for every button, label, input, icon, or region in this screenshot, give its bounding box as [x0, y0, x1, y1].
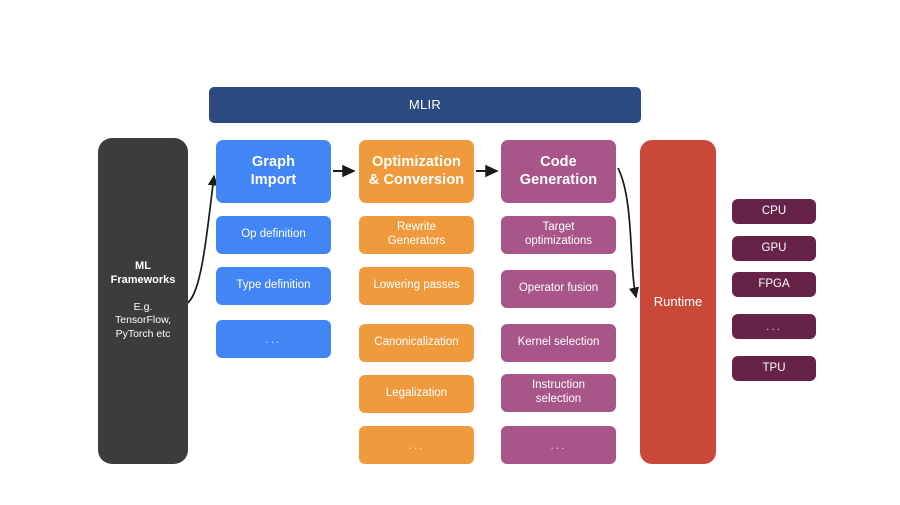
item-instruction-selection[interactable]: Instruction selection [501, 374, 616, 412]
item-label: Lowering passes [373, 279, 459, 293]
item-operator-fusion[interactable]: Operator fusion [501, 270, 616, 308]
stage-header-code-generation[interactable]: Code Generation [501, 140, 616, 203]
item-label: ... [408, 438, 424, 452]
item-label: ... [550, 438, 566, 452]
mlir-banner: MLIR [209, 87, 641, 123]
item-legalization[interactable]: Legalization [359, 375, 474, 413]
item-type-definition[interactable]: Type definition [216, 267, 331, 305]
item-label: Rewrite Generators [388, 221, 446, 248]
runtime-label: Runtime [654, 294, 702, 309]
mlir-banner-label: MLIR [409, 97, 441, 112]
hardware-target-label: ... [766, 319, 782, 333]
hardware-target-cpu[interactable]: CPU [732, 199, 816, 224]
item-label: Canonicalization [374, 336, 458, 350]
hardware-target-tpu[interactable]: TPU [732, 356, 816, 381]
item-target-optimizations[interactable]: Target optimizations [501, 216, 616, 254]
item-label: Target optimizations [525, 221, 592, 248]
item-op-definition[interactable]: Op definition [216, 216, 331, 254]
stage-header-optimization-conversion[interactable]: Optimization & Conversion [359, 140, 474, 203]
stage-header-label: Code Generation [520, 154, 598, 188]
hardware-target-label: GPU [762, 242, 787, 256]
item-canonicalization[interactable]: Canonicalization [359, 324, 474, 362]
item-code-generation-more[interactable]: ... [501, 426, 616, 464]
stage-header-label: Optimization & Conversion [369, 154, 464, 188]
item-label: Op definition [241, 228, 306, 242]
hardware-target-fpga[interactable]: FPGA [732, 272, 816, 297]
item-optimization-more[interactable]: ... [359, 426, 474, 464]
runtime-block[interactable]: Runtime [640, 140, 716, 464]
stage-header-graph-import[interactable]: Graph Import [216, 140, 331, 203]
hardware-target-gpu[interactable]: GPU [732, 236, 816, 261]
hardware-target-label: TPU [763, 362, 786, 376]
item-label: ... [265, 332, 281, 346]
ml-frameworks-block: ML Frameworks E.g. TensorFlow, PyTorch e… [98, 138, 188, 464]
hardware-target-more[interactable]: ... [732, 314, 816, 339]
item-label: Legalization [386, 387, 447, 401]
item-kernel-selection[interactable]: Kernel selection [501, 324, 616, 362]
item-lowering-passes[interactable]: Lowering passes [359, 267, 474, 305]
diagram-canvas: MLIR ML Frameworks E.g. TensorFlow, PyTo… [0, 0, 900, 505]
item-label: Instruction selection [532, 379, 585, 406]
hardware-target-label: CPU [762, 205, 786, 219]
ml-frameworks-subtitle: E.g. TensorFlow, PyTorch etc [115, 301, 171, 342]
stage-header-label: Graph Import [251, 154, 297, 188]
item-label: Type definition [236, 279, 310, 293]
hardware-target-label: FPGA [758, 278, 789, 292]
item-graph-import-more[interactable]: ... [216, 320, 331, 358]
item-label: Operator fusion [519, 282, 598, 296]
arrow-codegen-to-runtime [618, 168, 636, 297]
arrow-frameworks-to-graph-import [184, 176, 214, 305]
item-label: Kernel selection [518, 336, 600, 350]
ml-frameworks-title: ML Frameworks [111, 260, 176, 288]
item-rewrite-generators[interactable]: Rewrite Generators [359, 216, 474, 254]
